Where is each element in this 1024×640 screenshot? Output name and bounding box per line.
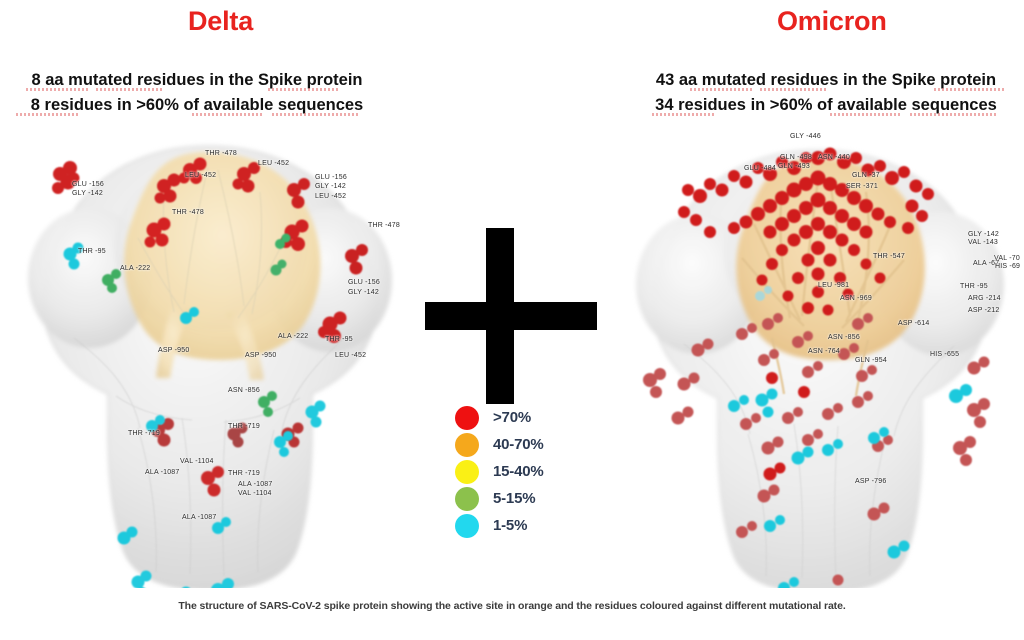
plus-horizontal-bar	[425, 302, 597, 330]
residue-label: ASN -856	[828, 334, 860, 341]
mutation-rate-legend: >70%40-70%15-40%5-15%1-5%	[455, 404, 544, 539]
residue-label: SER -371	[846, 183, 878, 190]
residue-label: ASP -796	[855, 478, 886, 485]
legend-color-swatch	[455, 487, 479, 511]
residue-label: THR -95	[960, 283, 988, 290]
legend-item: 1-5%	[455, 512, 544, 539]
residue-label: HIS -69	[995, 263, 1020, 270]
residue-label: GLN -954	[855, 357, 887, 364]
legend-color-swatch	[455, 460, 479, 484]
residue-label: GLN -493	[778, 163, 810, 170]
residue-label: ARG -214	[968, 295, 1001, 302]
residue-label: LEU -981	[818, 282, 849, 289]
legend-item-label: 1-5%	[493, 517, 527, 534]
legend-item: 40-70%	[455, 431, 544, 458]
legend-color-swatch	[455, 514, 479, 538]
residue-label: GLY -446	[790, 133, 821, 140]
residue-label: ASP -212	[968, 307, 999, 314]
residue-label: GLN -37	[852, 172, 880, 179]
residue-label: THR -547	[873, 253, 905, 260]
figure-caption: The structure of SARS-CoV-2 spike protei…	[0, 600, 1024, 612]
plus-operator-symbol	[425, 228, 597, 404]
legend-item: 15-40%	[455, 458, 544, 485]
legend-color-swatch	[455, 406, 479, 430]
residue-label: ASP -614	[898, 320, 929, 327]
legend-item: >70%	[455, 404, 544, 431]
residue-label: GLU -484	[744, 165, 776, 172]
legend-color-swatch	[455, 433, 479, 457]
legend-item-label: >70%	[493, 409, 531, 426]
residue-label: HIS -655	[930, 351, 959, 358]
legend-item-label: 15-40%	[493, 463, 544, 480]
legend-item-label: 5-15%	[493, 490, 535, 507]
residue-label: ASN -969	[840, 295, 872, 302]
legend-item-label: 40-70%	[493, 436, 544, 453]
legend-item: 5-15%	[455, 485, 544, 512]
residue-label: GLN -498	[780, 154, 812, 161]
figure-canvas: Delta Omicron 8 aa mutated residues in t…	[0, 0, 1024, 640]
residue-label: ASN -764	[808, 348, 840, 355]
residue-label: ASN -440	[818, 154, 850, 161]
residue-label: VAL -143	[968, 239, 998, 246]
residue-label: GLY -142	[968, 231, 999, 238]
